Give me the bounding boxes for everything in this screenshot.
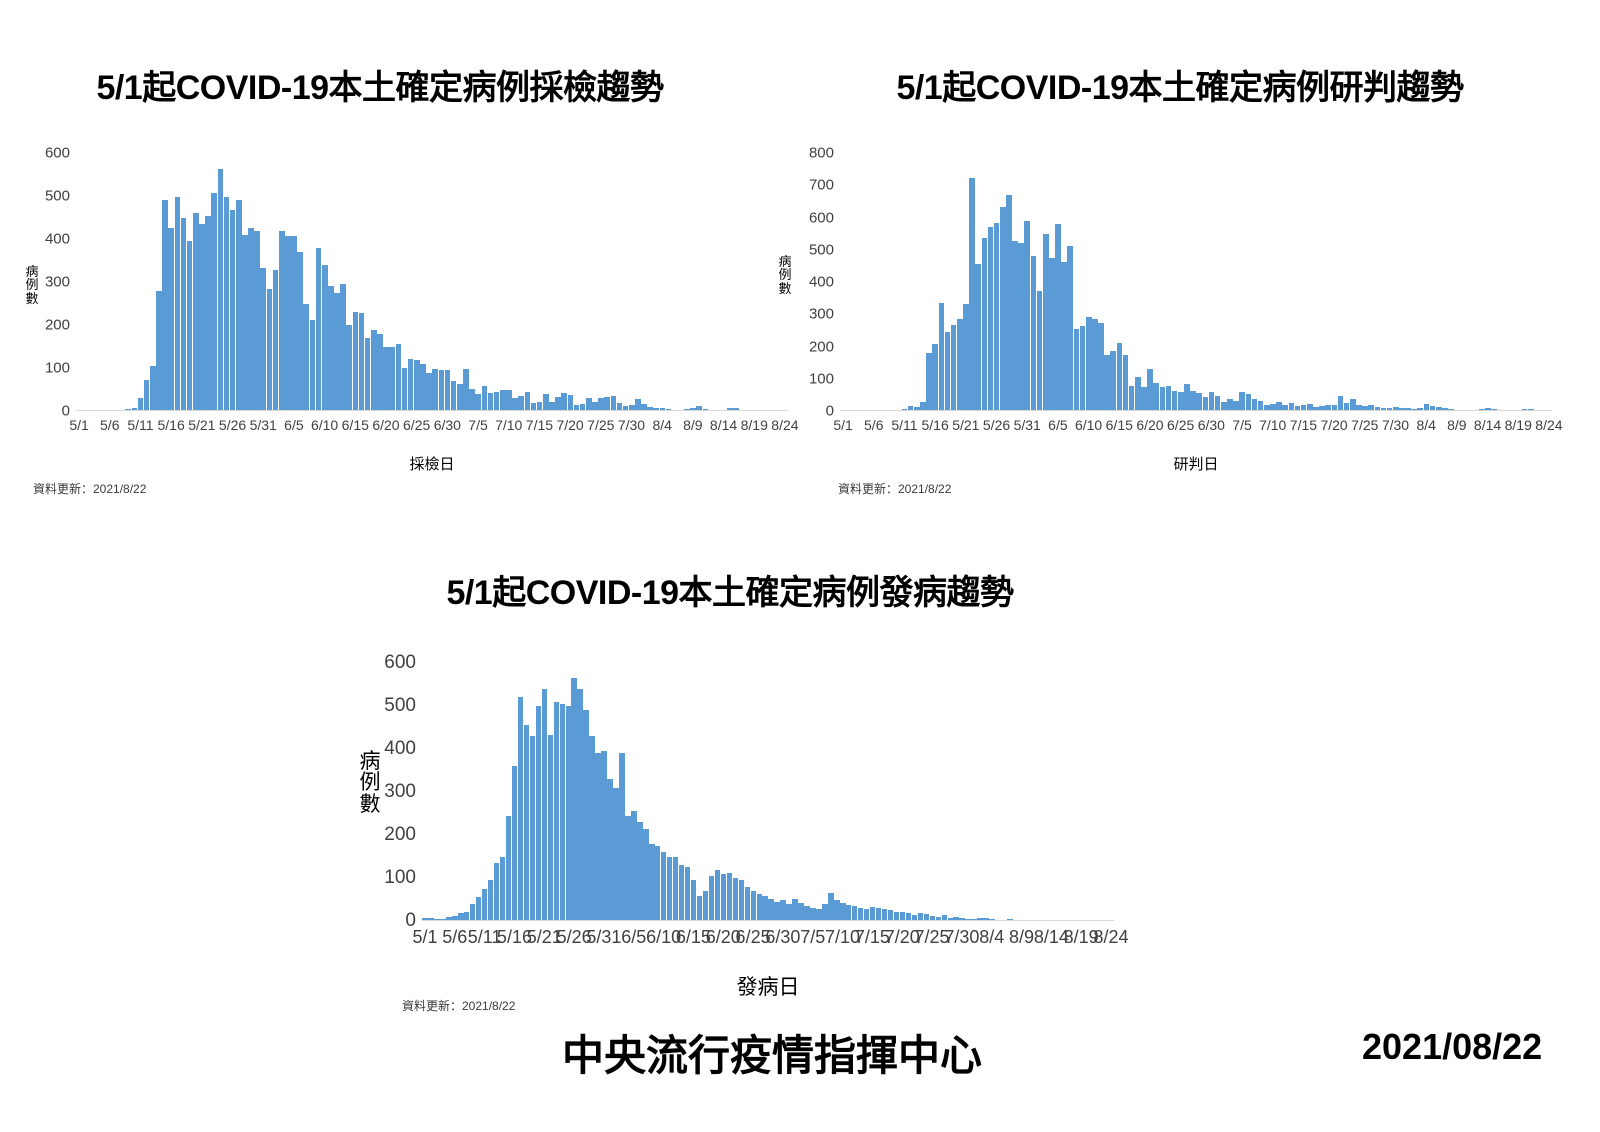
x-tick-label: 7/30 bbox=[1382, 417, 1409, 433]
bar bbox=[476, 897, 481, 921]
bar bbox=[205, 216, 211, 411]
bar bbox=[303, 304, 309, 411]
bar bbox=[667, 857, 672, 922]
bar bbox=[951, 325, 957, 411]
x-tick-label: 5/31 bbox=[1014, 417, 1041, 433]
x-tick-label: 5/21 bbox=[952, 417, 979, 433]
bar bbox=[566, 706, 571, 921]
chart-title: 5/1起COVID-19本土確定病例採檢趨勢 bbox=[0, 60, 760, 109]
bar bbox=[1037, 291, 1043, 411]
x-tick-label: 6/5 bbox=[621, 927, 646, 948]
bar bbox=[673, 857, 678, 922]
bar bbox=[488, 880, 493, 921]
x-tick-label: 5/1 bbox=[69, 417, 88, 433]
bar bbox=[1239, 392, 1245, 411]
bar bbox=[150, 366, 156, 411]
bar bbox=[963, 304, 969, 411]
bar bbox=[709, 876, 714, 921]
plot-area bbox=[76, 153, 788, 411]
bar bbox=[506, 390, 512, 411]
bar bbox=[649, 844, 654, 921]
bar bbox=[1117, 343, 1123, 411]
bar bbox=[383, 347, 389, 412]
bar-series bbox=[76, 153, 788, 411]
bar bbox=[1123, 355, 1129, 411]
bar bbox=[975, 264, 981, 411]
bar bbox=[804, 906, 809, 921]
bar bbox=[631, 811, 636, 921]
bar bbox=[945, 332, 951, 411]
bar bbox=[518, 697, 523, 921]
x-tick-label: 5/6 bbox=[864, 417, 883, 433]
bar bbox=[589, 736, 594, 921]
bar bbox=[721, 874, 726, 921]
chart-judgement-trend: 5/1起COVID-19本土確定病例研判趨勢 病例數 8007006005004… bbox=[800, 60, 1600, 510]
bar bbox=[530, 736, 535, 921]
bar bbox=[611, 396, 617, 411]
bar bbox=[297, 252, 303, 411]
x-tick-label: 7/10 bbox=[1259, 417, 1286, 433]
bar bbox=[525, 392, 531, 411]
bar bbox=[768, 899, 773, 921]
bar bbox=[1153, 383, 1159, 411]
bar bbox=[353, 312, 359, 411]
bar bbox=[969, 178, 975, 411]
x-tick-label: 5/31 bbox=[250, 417, 277, 433]
x-axis-title: 採檢日 bbox=[76, 453, 788, 474]
plot-wrapper: 病例數 6005004003002001000 5/15/65/115/165/… bbox=[0, 145, 800, 435]
bar bbox=[561, 393, 567, 411]
bar bbox=[798, 903, 803, 921]
bar bbox=[852, 906, 857, 921]
bar bbox=[439, 370, 445, 411]
chart-sampling-trend: 5/1起COVID-19本土確定病例採檢趨勢 病例數 6005004003002… bbox=[0, 60, 800, 510]
bar bbox=[1086, 317, 1092, 411]
bar bbox=[870, 907, 875, 921]
x-tick-label: 8/19 bbox=[741, 417, 768, 433]
x-tick-label: 8/19 bbox=[1505, 417, 1532, 433]
bar bbox=[340, 284, 346, 411]
x-tick-label: 5/21 bbox=[188, 417, 215, 433]
y-tick-label: 100 bbox=[28, 360, 70, 377]
bar bbox=[601, 751, 606, 921]
bar bbox=[193, 213, 199, 411]
bar bbox=[432, 369, 438, 411]
bar bbox=[643, 829, 648, 921]
bar bbox=[834, 900, 839, 921]
x-tick-label: 5/1 bbox=[833, 417, 852, 433]
bar bbox=[218, 169, 224, 411]
x-tick-label: 6/20 bbox=[1136, 417, 1163, 433]
bar bbox=[1166, 386, 1172, 411]
bar bbox=[482, 889, 487, 921]
x-tick-label: 8/9 bbox=[1447, 417, 1466, 433]
bar bbox=[1110, 351, 1116, 411]
bar bbox=[828, 893, 833, 921]
bar bbox=[1184, 384, 1190, 411]
axis-baseline bbox=[422, 920, 1114, 921]
bar bbox=[175, 197, 181, 411]
bar bbox=[1215, 396, 1221, 411]
bar bbox=[457, 384, 463, 411]
x-tick-label: 7/30 bbox=[944, 927, 979, 948]
bar bbox=[697, 896, 702, 921]
bar bbox=[445, 370, 451, 411]
bar bbox=[267, 289, 273, 411]
bar bbox=[156, 291, 162, 411]
y-axis-title: 病例數 bbox=[777, 255, 793, 295]
y-tick-label: 0 bbox=[368, 910, 416, 932]
bar bbox=[762, 896, 767, 921]
bar bbox=[548, 735, 553, 921]
bar bbox=[291, 236, 297, 411]
x-tick-label: 7/25 bbox=[587, 417, 614, 433]
bar bbox=[230, 210, 236, 411]
bar bbox=[1055, 224, 1061, 411]
bar bbox=[571, 678, 576, 921]
bar bbox=[543, 394, 549, 411]
y-tick-label: 100 bbox=[368, 867, 416, 889]
bar bbox=[988, 227, 994, 411]
x-tick-label: 7/15 bbox=[526, 417, 553, 433]
bar bbox=[715, 870, 720, 921]
bar bbox=[555, 397, 561, 411]
plot-wrapper: 病例數 8007006005004003002001000 5/15/65/11… bbox=[800, 145, 1600, 435]
bar bbox=[494, 392, 500, 411]
y-tick-label: 0 bbox=[28, 403, 70, 420]
bar bbox=[733, 878, 738, 921]
bar bbox=[751, 891, 756, 921]
plot-area bbox=[840, 153, 1552, 411]
y-tick-label: 600 bbox=[28, 145, 70, 162]
x-tick-label: 8/9 bbox=[683, 417, 702, 433]
plot-wrapper: 病例數 6005004003002001000 5/15/65/115/165/… bbox=[330, 653, 1160, 953]
data-update-note: 資料更新：2021/8/22 bbox=[838, 480, 951, 497]
bar bbox=[488, 393, 494, 411]
x-tick-label: 8/14 bbox=[710, 417, 737, 433]
y-tick-label: 300 bbox=[28, 274, 70, 291]
bar bbox=[334, 293, 340, 411]
bar bbox=[1172, 391, 1178, 411]
data-update-note: 資料更新：2021/8/22 bbox=[402, 997, 515, 1014]
bar bbox=[469, 389, 475, 411]
x-tick-label: 7/20 bbox=[556, 417, 583, 433]
x-tick-label: 5/26 bbox=[983, 417, 1010, 433]
bar bbox=[568, 395, 574, 411]
bar bbox=[389, 347, 395, 411]
x-tick-label: 5/16 bbox=[922, 417, 949, 433]
bar bbox=[1209, 392, 1215, 411]
bar bbox=[1196, 393, 1202, 411]
bar bbox=[1203, 397, 1209, 412]
bar bbox=[463, 369, 469, 411]
x-tick-label: 6/25 bbox=[1167, 417, 1194, 433]
bar bbox=[661, 852, 666, 921]
bar bbox=[162, 200, 168, 411]
x-tick-label: 6/5 bbox=[284, 417, 303, 433]
bar bbox=[494, 863, 499, 921]
bar bbox=[745, 887, 750, 921]
chart-title: 5/1起COVID-19本土確定病例發病趨勢 bbox=[330, 565, 1130, 614]
x-tick-label: 8/9 bbox=[1009, 927, 1034, 948]
bar bbox=[1098, 323, 1104, 411]
bar bbox=[1012, 241, 1018, 411]
x-tick-label: 8/4 bbox=[652, 417, 671, 433]
x-tick-label: 8/24 bbox=[1535, 417, 1562, 433]
bar bbox=[619, 753, 624, 921]
bar bbox=[1246, 394, 1252, 411]
bar bbox=[396, 344, 402, 411]
bar bbox=[637, 822, 642, 921]
x-tick-label: 7/15 bbox=[1290, 417, 1317, 433]
x-tick-label: 8/4 bbox=[979, 927, 1004, 948]
x-tick-label: 6/15 bbox=[342, 417, 369, 433]
bar bbox=[1338, 396, 1344, 411]
bar bbox=[1141, 387, 1147, 411]
bar bbox=[260, 268, 266, 411]
bar bbox=[359, 313, 365, 411]
bar bbox=[1074, 329, 1080, 411]
bar bbox=[982, 238, 988, 411]
bar bbox=[1080, 326, 1086, 411]
bar bbox=[604, 397, 610, 411]
bar bbox=[554, 702, 559, 921]
x-tick-label: 5/1 bbox=[412, 927, 437, 948]
bar bbox=[371, 330, 377, 411]
bar bbox=[414, 360, 420, 411]
slide-root: 5/1起COVID-19本土確定病例採檢趨勢 病例數 6005004003002… bbox=[0, 0, 1600, 1132]
bar bbox=[211, 193, 217, 411]
y-tick-label: 200 bbox=[368, 824, 416, 846]
bar bbox=[577, 689, 582, 921]
bar bbox=[500, 857, 505, 922]
bar bbox=[1129, 386, 1135, 411]
bar bbox=[500, 390, 506, 412]
x-tick-label: 5/6 bbox=[100, 417, 119, 433]
bar bbox=[426, 373, 432, 411]
x-tick-label: 5/11 bbox=[127, 417, 153, 433]
x-tick-label: 7/5 bbox=[1232, 417, 1251, 433]
bar bbox=[1049, 258, 1055, 412]
bar bbox=[792, 899, 797, 921]
bar bbox=[1190, 391, 1196, 411]
bar bbox=[1043, 234, 1049, 411]
bar bbox=[757, 894, 762, 921]
x-tick-label: 7/5 bbox=[800, 927, 825, 948]
bar bbox=[926, 353, 932, 411]
x-tick-label: 6/10 bbox=[1075, 417, 1102, 433]
bar bbox=[786, 904, 791, 921]
bar-series bbox=[422, 663, 1114, 921]
bar bbox=[840, 903, 845, 921]
y-tick-label: 500 bbox=[792, 241, 834, 258]
x-axis-title: 發病日 bbox=[422, 971, 1114, 1001]
bar bbox=[625, 816, 630, 921]
bar bbox=[187, 241, 193, 411]
bar bbox=[420, 364, 426, 411]
x-tick-label: 5/31 bbox=[586, 927, 621, 948]
bar bbox=[1147, 369, 1153, 411]
bar bbox=[1018, 243, 1024, 411]
x-tick-label: 7/30 bbox=[618, 417, 645, 433]
x-tick-label: 5/11 bbox=[891, 417, 917, 433]
chart-title: 5/1起COVID-19本土確定病例研判趨勢 bbox=[800, 60, 1560, 109]
x-tick-label: 7/25 bbox=[1351, 417, 1378, 433]
y-tick-label: 600 bbox=[368, 652, 416, 674]
chart-onset-trend: 5/1起COVID-19本土確定病例發病趨勢 病例數 6005004003002… bbox=[330, 565, 1160, 1035]
bar bbox=[224, 197, 230, 411]
bar bbox=[932, 344, 938, 411]
bar bbox=[1178, 392, 1184, 411]
bar bbox=[583, 710, 588, 921]
x-tick-label: 8/4 bbox=[1416, 417, 1435, 433]
x-tick-label: 6/30 bbox=[434, 417, 461, 433]
axis-baseline bbox=[840, 410, 1552, 411]
bar bbox=[994, 223, 1000, 411]
y-tick-label: 300 bbox=[792, 306, 834, 323]
x-tick-label: 7/5 bbox=[468, 417, 487, 433]
bar-series bbox=[840, 153, 1552, 411]
bar bbox=[1160, 387, 1166, 411]
x-tick-label: 5/16 bbox=[158, 417, 185, 433]
y-tick-label: 800 bbox=[792, 145, 834, 162]
x-tick-label: 6/30 bbox=[1198, 417, 1225, 433]
bar bbox=[273, 270, 279, 411]
bar bbox=[774, 902, 779, 921]
axis-baseline bbox=[76, 410, 788, 411]
plot-area bbox=[422, 663, 1114, 921]
y-tick-label: 100 bbox=[792, 370, 834, 387]
bar bbox=[957, 319, 963, 411]
bar bbox=[1104, 355, 1110, 411]
bar bbox=[310, 320, 316, 411]
bar bbox=[475, 394, 481, 411]
x-tick-label: 6/5 bbox=[1048, 417, 1067, 433]
bar bbox=[595, 753, 600, 921]
bar bbox=[939, 303, 945, 411]
x-tick-label: 6/20 bbox=[372, 417, 399, 433]
y-tick-label: 300 bbox=[368, 781, 416, 803]
x-tick-label: 8/14 bbox=[1474, 417, 1501, 433]
bar bbox=[655, 846, 660, 921]
bar bbox=[408, 359, 414, 411]
x-tick-label: 5/6 bbox=[442, 927, 467, 948]
bar bbox=[780, 900, 785, 921]
y-tick-label: 500 bbox=[28, 188, 70, 205]
bar bbox=[236, 200, 242, 411]
bar bbox=[451, 381, 457, 411]
bar bbox=[402, 368, 408, 411]
bar bbox=[285, 236, 291, 411]
bar bbox=[506, 816, 511, 921]
bar bbox=[1006, 195, 1012, 411]
bar bbox=[1067, 246, 1073, 411]
y-tick-label: 200 bbox=[792, 338, 834, 355]
y-tick-label: 200 bbox=[28, 317, 70, 334]
bar bbox=[727, 873, 732, 921]
bar bbox=[613, 788, 618, 921]
bar bbox=[542, 689, 547, 921]
bar bbox=[377, 334, 383, 411]
bar bbox=[144, 380, 150, 411]
bar bbox=[1135, 377, 1141, 412]
x-tick-label: 7/20 bbox=[1320, 417, 1347, 433]
bar bbox=[1000, 207, 1006, 411]
bar bbox=[242, 235, 248, 411]
bar bbox=[607, 779, 612, 921]
bar bbox=[703, 891, 708, 921]
x-tick-label: 6/30 bbox=[765, 927, 800, 948]
y-tick-label: 600 bbox=[792, 209, 834, 226]
y-tick-label: 700 bbox=[792, 177, 834, 194]
bar bbox=[181, 218, 187, 411]
bar bbox=[316, 248, 322, 411]
bar bbox=[365, 338, 371, 411]
bar bbox=[199, 224, 205, 411]
bar bbox=[822, 904, 827, 921]
bar bbox=[536, 706, 541, 921]
data-update-note: 資料更新：2021/8/22 bbox=[33, 480, 146, 497]
bar bbox=[328, 286, 334, 411]
x-tick-label: 6/15 bbox=[1106, 417, 1133, 433]
bar bbox=[346, 325, 352, 411]
x-tick-label: 6/25 bbox=[403, 417, 430, 433]
y-tick-label: 0 bbox=[792, 403, 834, 420]
bar bbox=[1024, 221, 1030, 411]
y-tick-label: 400 bbox=[28, 231, 70, 248]
bar bbox=[322, 265, 328, 411]
y-tick-label: 500 bbox=[368, 695, 416, 717]
y-tick-label: 400 bbox=[792, 274, 834, 291]
bar bbox=[518, 396, 524, 411]
footer-date: 2021/08/22 bbox=[1362, 1026, 1542, 1068]
footer-organization: 中央流行疫情指揮中心 bbox=[562, 1022, 982, 1083]
bar bbox=[1031, 256, 1037, 411]
bar bbox=[168, 228, 174, 411]
bar bbox=[1092, 319, 1098, 411]
bar bbox=[679, 865, 684, 921]
x-tick-label: 5/26 bbox=[219, 417, 246, 433]
bar bbox=[685, 867, 690, 921]
bar bbox=[691, 880, 696, 921]
bar bbox=[524, 725, 529, 921]
bar bbox=[482, 386, 488, 411]
bar bbox=[846, 905, 851, 921]
bar bbox=[739, 880, 744, 921]
bar bbox=[279, 231, 285, 411]
x-axis-title: 研判日 bbox=[840, 453, 1552, 474]
bar bbox=[248, 228, 254, 411]
bar bbox=[470, 904, 475, 921]
x-tick-label: 7/10 bbox=[495, 417, 522, 433]
bar bbox=[512, 766, 517, 921]
x-tick-label: 6/10 bbox=[311, 417, 338, 433]
y-tick-label: 400 bbox=[368, 738, 416, 760]
x-tick-label: 8/24 bbox=[1093, 927, 1128, 948]
bar bbox=[560, 704, 565, 921]
bar bbox=[1061, 262, 1067, 411]
bar bbox=[254, 231, 260, 411]
